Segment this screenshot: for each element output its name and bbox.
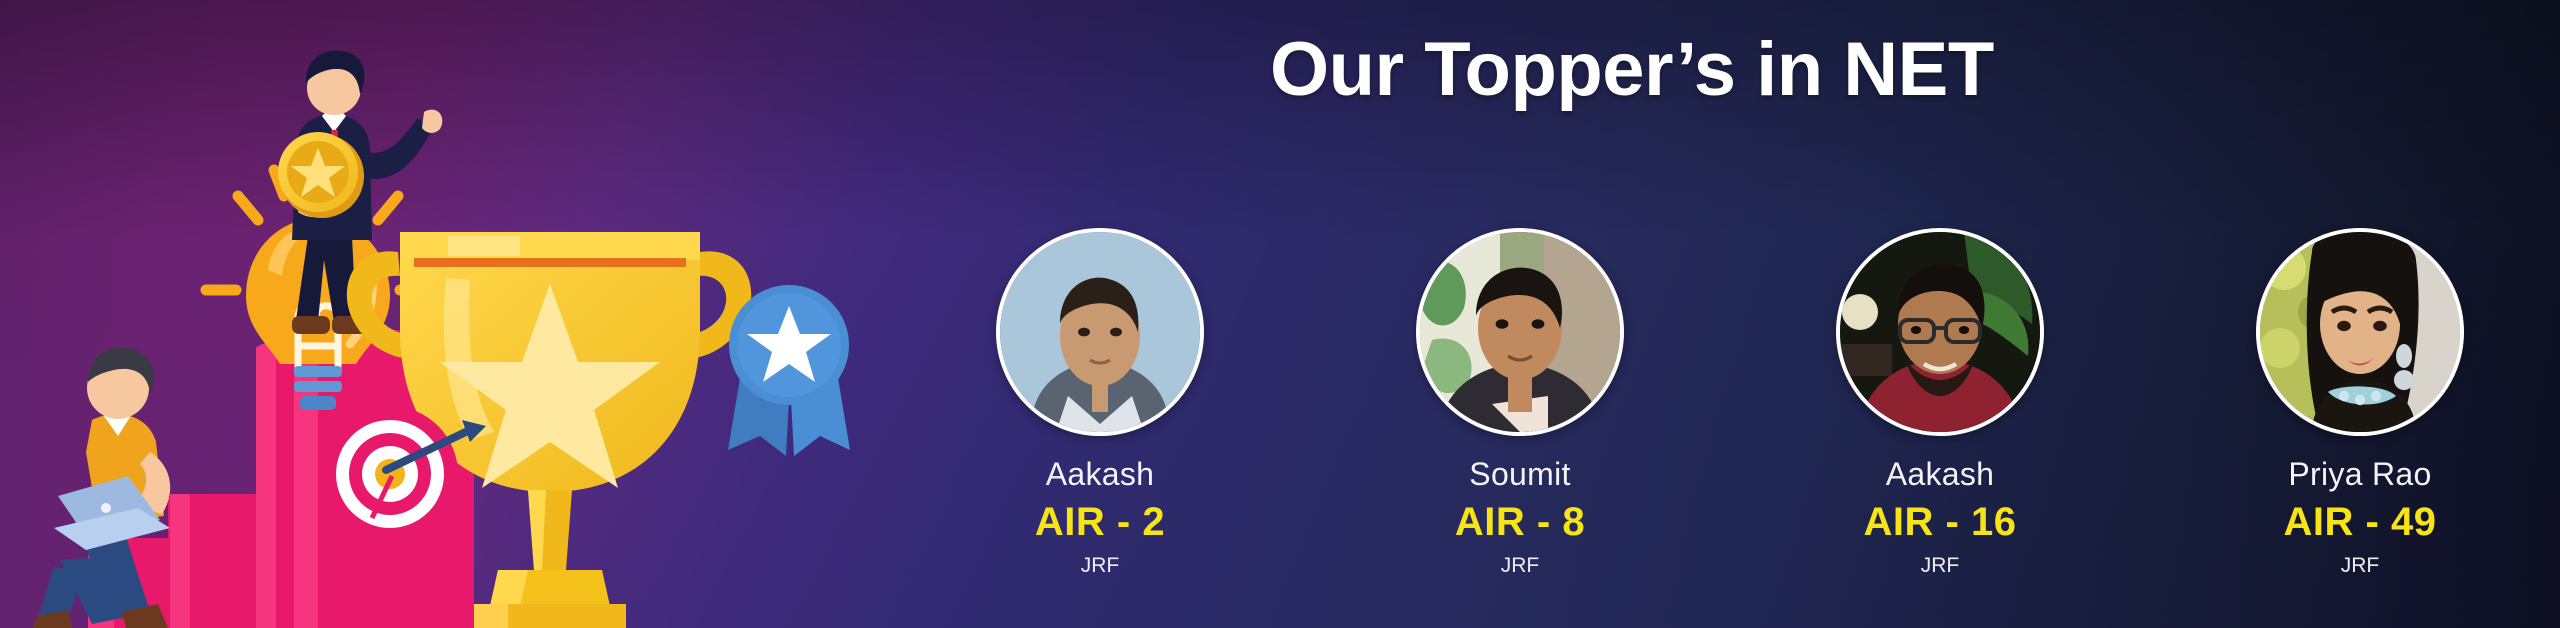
topper-card[interactable]: Aakash AIR - 2 JRF (985, 228, 1215, 628)
student-photo-aakash-1 (1000, 232, 1200, 432)
achievement-illustration (0, 0, 900, 628)
topper-rank: AIR - 8 (1405, 502, 1635, 542)
topper-name: Aakash (985, 458, 1215, 490)
topper-card[interactable]: Aakash AIR - 16 JRF (1825, 228, 2055, 628)
blue-ribbon-badge-icon (728, 285, 850, 456)
topper-qual: JRF (985, 555, 1215, 576)
topper-rank: AIR - 16 (1825, 502, 2055, 542)
toppers-banner: Our Topper’s in NET Aakash AIR - 2 (0, 0, 2560, 628)
topper-name: Priya Rao (2245, 458, 2475, 490)
student-photo-soumit (1420, 232, 1620, 432)
topper-card[interactable]: Soumit AIR - 8 JRF (1405, 228, 1635, 628)
avatar (1836, 228, 2044, 436)
avatar (1416, 228, 1624, 436)
student-photo-priya-rao (2260, 232, 2460, 432)
topper-qual: JRF (1825, 555, 2055, 576)
topper-qual: JRF (1405, 555, 1635, 576)
topper-rank: AIR - 49 (2245, 502, 2475, 542)
topper-name: Soumit (1405, 458, 1635, 490)
topper-rank: AIR - 2 (985, 502, 1215, 542)
topper-qual: JRF (2245, 555, 2475, 576)
toppers-list: Aakash AIR - 2 JRF (985, 228, 2475, 628)
avatar (996, 228, 1204, 436)
page-title: Our Topper’s in NET (1270, 26, 1994, 113)
topper-card[interactable]: Priya Rao AIR - 49 JRF (2245, 228, 2475, 628)
topper-name: Aakash (1825, 458, 2055, 490)
student-photo-aakash-2 (1840, 232, 2040, 432)
avatar (2256, 228, 2464, 436)
